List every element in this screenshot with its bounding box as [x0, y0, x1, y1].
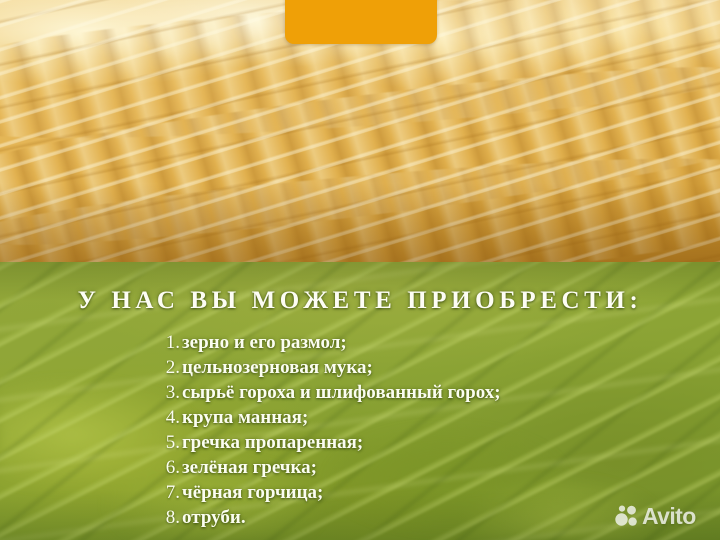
- list-item-label: сырьё гороха и шлифованный горох;: [180, 382, 501, 403]
- list-item-number: 5.: [158, 430, 180, 455]
- list-item: 1.зерно и его размол;: [0, 330, 720, 355]
- list-item-label: чёрная горчица;: [180, 482, 323, 503]
- list-item-number: 1.: [158, 330, 180, 355]
- list-item: 5.гречка пропаренная;: [0, 430, 720, 455]
- list-item: 6.зелёная гречка;: [0, 455, 720, 480]
- list-item: 7.чёрная горчица;: [0, 480, 720, 505]
- list-item-number: 7.: [158, 480, 180, 505]
- list-item-number: 2.: [158, 355, 180, 380]
- avito-watermark: Avito: [615, 503, 696, 529]
- avito-brand-text: Avito: [642, 505, 696, 528]
- list-item-number: 8.: [158, 505, 180, 530]
- orange-tab-badge: [285, 0, 437, 44]
- list-item-number: 6.: [158, 455, 180, 480]
- list-item-label: отруби.: [180, 507, 246, 528]
- list-item: 2.цельнозерновая мука;: [0, 355, 720, 380]
- list-item-label: зелёная гречка;: [180, 457, 317, 478]
- list-item-number: 4.: [158, 405, 180, 430]
- avito-dots-logo-icon: [615, 505, 639, 527]
- list-item-number: 3.: [158, 380, 180, 405]
- list-item-label: гречка пропаренная;: [180, 432, 363, 453]
- advert-banner: У НАС ВЫ МОЖЕТЕ ПРИОБРЕСТИ: 1.зерно и ег…: [0, 0, 720, 540]
- page-title: У НАС ВЫ МОЖЕТЕ ПРИОБРЕСТИ:: [0, 287, 720, 315]
- list-item: 4.крупа манная;: [0, 405, 720, 430]
- list-item-label: цельнозерновая мука;: [180, 357, 373, 378]
- list-item: 8.отруби.: [0, 505, 720, 530]
- product-list: 1.зерно и его размол; 2.цельнозерновая м…: [0, 330, 720, 530]
- list-item: 3.сырьё гороха и шлифованный горох;: [0, 380, 720, 405]
- list-item-label: зерно и его размол;: [180, 332, 347, 353]
- list-item-label: крупа манная;: [180, 407, 308, 428]
